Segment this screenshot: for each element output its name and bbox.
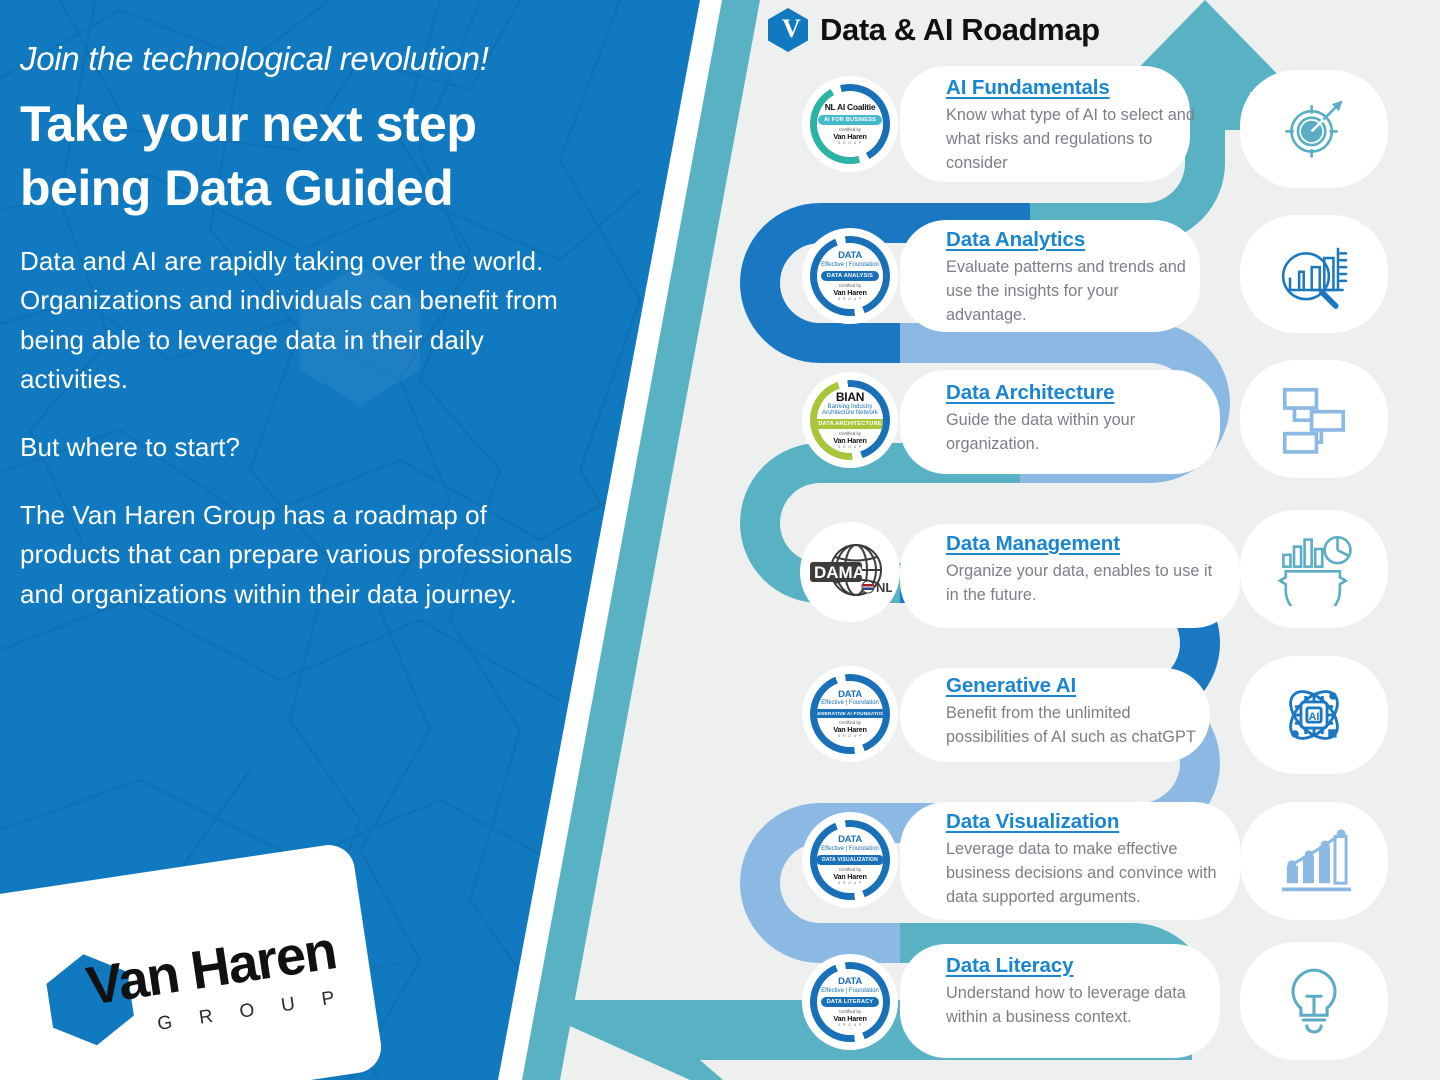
svg-text:AI: AI [1309,711,1320,723]
badge-vendor-sub: G R O U P [838,141,862,145]
badge-vendor: Van Haren [833,872,866,881]
badge-vendor: Van Haren [833,288,866,297]
certification-badge: DAMA NL [808,530,892,614]
step-description: Benefit from the unlimited possibilities… [946,702,1214,750]
step-icon-bubble [1240,802,1388,920]
certification-badge: DATA Effective | Foundation DATA LITERAC… [808,960,892,1044]
step-description: Understand how to leverage data within a… [946,982,1216,1030]
growth-bar-chart-icon [1274,824,1354,898]
step-icon-bubble [1240,510,1388,628]
step-icon-bubble [1240,942,1388,1060]
badge-vendor: Van Haren [833,132,866,141]
badge-pill: DATA LITERACY [821,997,880,1007]
hero-paragraph-3: The Van Haren Group has a roadmap of pro… [20,496,580,615]
chart-magnifier-icon [1274,236,1354,312]
badge-org-sub: Effective | Foundation [821,988,879,994]
badge-pill: AI FOR BUSINESS [818,115,882,125]
step-icon-bubble [1240,70,1388,188]
step-title-link[interactable]: AI Fundamentals [946,76,1196,100]
hero-kicker: Join the technological revolution! [20,40,580,78]
badge-pill: GENERATIVE AI FOUNDATION [817,709,883,718]
badge-pill: DATA VISUALIZATION [817,855,883,865]
badge-org: DATA [838,835,862,845]
step-title-link[interactable]: Data Visualization [946,810,1231,834]
step-description: Organize your data, enables to use it in… [946,560,1226,608]
badge-org: NL AI Coalitie [825,103,876,112]
step-description: Know what type of AI to select and what … [946,104,1196,175]
step-description: Guide the data within your organization. [946,409,1216,457]
badge-org: DATA [838,251,862,261]
hero-copy: Join the technological revolution! Take … [20,40,580,614]
step-text: Data Architecture Guide the data within … [946,381,1216,457]
svg-text:DAMA: DAMA [814,563,865,582]
step-icon-bubble [1240,360,1388,478]
step-text: Data Visualization Leverage data to make… [946,810,1231,909]
headline-line-2: being Data Guided [20,160,453,216]
badge-pill: DATA ARCHITECTURE [817,419,883,429]
badge-vendor-sub: G R O U P [838,881,862,885]
step-text: Data Literacy Understand how to leverage… [946,954,1216,1030]
badge-org-sub: Effective | Foundation [821,262,879,268]
badge-org: DATA [838,690,862,700]
step-description: Leverage data to make effective business… [946,838,1231,909]
step-title-link[interactable]: Data Management [946,532,1226,556]
lightbulb-icon [1278,963,1350,1039]
van-haren-logo: Van Haren G R O U P [42,908,386,1075]
step-icon-bubble [1240,215,1388,333]
hero-headline: Take your next step being Data Guided [20,92,580,220]
certification-badge: DATA Effective | Foundation DATA VISUALI… [808,818,892,902]
badge-vendor-sub: G R O U P [838,1023,862,1027]
step-text: Generative AI Benefit from the unlimited… [946,674,1214,750]
roadmap-header: V Data & AI Roadmap [768,8,1100,52]
svg-text:NL: NL [876,580,892,595]
dama-globe-icon: DAMA NL [808,530,892,614]
infographic-root: Join the technological revolution! Take … [0,0,1440,1080]
badge-org: DATA [838,977,862,987]
certification-badge: DATA Effective | Foundation DATA ANALYSI… [808,234,892,318]
step-text: Data Analytics Evaluate patterns and tre… [946,228,1202,327]
badge-vendor: Van Haren [833,1014,866,1023]
badge-org-sub: Effective | Foundation [821,846,879,852]
badge-vendor: Van Haren [833,725,866,734]
badge-vendor: Van Haren [833,436,866,445]
roadmap-title: Data & AI Roadmap [820,12,1100,48]
step-text: AI Fundamentals Know what type of AI to … [946,76,1196,175]
badge-org-sub: Effective | Foundation [821,700,879,706]
badge-org-sub: Banking Industry Architecture Network [817,404,883,417]
certification-badge: DATA Effective | Foundation GENERATIVE A… [808,672,892,756]
van-haren-hex-icon: V [768,8,808,52]
step-text: Data Management Organize your data, enab… [946,532,1226,608]
badge-vendor-sub: G R O U P [838,297,862,301]
badge-vendor-sub: G R O U P [838,734,862,738]
target-arrow-icon [1276,91,1352,167]
hero-paragraph-1: Data and AI are rapidly taking over the … [20,242,580,400]
gear-chart-icon [1274,532,1354,606]
hero-paragraph-2: But where to start? [20,428,580,468]
certification-badge: NL AI Coalitie AI FOR BUSINESS Certified… [808,82,892,166]
step-icon-bubble: AI [1240,656,1388,774]
badge-vendor-sub: G R O U P [838,445,862,449]
step-title-link[interactable]: Data Literacy [946,954,1216,978]
ai-chip-atom-icon: AI [1274,677,1354,753]
headline-line-1: Take your next step [20,96,476,152]
certification-badge: BIAN Banking Industry Architecture Netwo… [808,378,892,462]
flowchart-boxes-icon [1275,382,1353,456]
badge-org: BIAN [836,391,864,403]
step-title-link[interactable]: Generative AI [946,674,1214,698]
badge-pill: DATA ANALYSIS [821,271,879,281]
hex-letter: V [782,16,801,42]
step-title-link[interactable]: Data Architecture [946,381,1216,405]
step-description: Evaluate patterns and trends and use the… [946,256,1202,327]
step-title-link[interactable]: Data Analytics [946,228,1202,252]
